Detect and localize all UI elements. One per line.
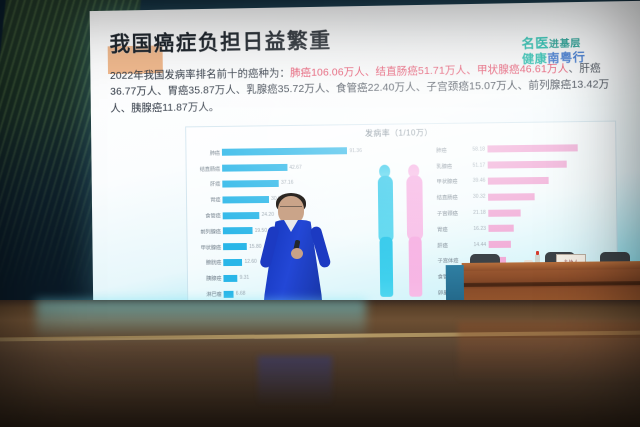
male-silhouette	[372, 165, 400, 297]
bar	[488, 193, 535, 201]
bar	[222, 180, 279, 188]
body-red-1: 肺癌106.06万人、结直肠癌51.71万人、甲状腺癌46.61	[290, 63, 547, 79]
bar-value-label: 30.32	[473, 194, 486, 200]
bar	[488, 241, 511, 248]
bar-category-label: 甲状腺癌	[188, 243, 222, 251]
male-body	[377, 176, 393, 242]
slide-body-text: 2022年我国发病率排名前十的癌种为：肺癌106.06万人、结直肠癌51.71万…	[110, 60, 626, 117]
bar-row: 甲状腺癌39.46	[436, 172, 616, 190]
bar-category-label: 前列腺癌	[187, 227, 221, 235]
bar-value-label: 12.60	[244, 259, 256, 265]
presenter-reflection	[258, 356, 332, 406]
bar-category-label: 淋巴瘤	[188, 290, 222, 298]
bar-track: 42.67	[222, 163, 362, 172]
bar-track: 21.18	[473, 208, 616, 216]
female-silhouette	[401, 164, 429, 297]
bar-category-label: 结直肠癌	[437, 193, 471, 201]
female-legs	[408, 237, 422, 297]
bar-category-label: 乳腺癌	[436, 161, 470, 169]
bar-track: 14.44	[473, 240, 616, 248]
bar	[222, 164, 287, 172]
bar-value-label: 51.17	[473, 162, 486, 168]
bar-row: 子宫颈癌21.18	[437, 204, 617, 222]
bar-row: 肝癌37.16	[187, 175, 363, 193]
bar-value-label: 14.44	[473, 242, 486, 248]
page-title: 我国癌症负担日益繁重	[109, 25, 537, 59]
bar-track: 91.36	[222, 147, 362, 156]
bar-value-label: 37.16	[281, 180, 293, 186]
bar-track: 37.16	[222, 179, 362, 188]
body-red-2: 万人	[547, 63, 569, 75]
bar-track: 51.17	[473, 160, 616, 169]
desk-trim	[462, 281, 640, 287]
bar-category-label: 肝癌	[187, 180, 221, 188]
chart-title: 发病率（1/10万）	[186, 125, 615, 142]
bar-value-label: 9.31	[240, 275, 250, 281]
bar-value-label: 21.18	[473, 210, 486, 216]
bar	[223, 243, 247, 250]
bar-category-label: 肺癌	[436, 146, 470, 154]
bar	[223, 212, 260, 219]
silhouette-group	[362, 142, 438, 301]
bar-value-label: 42.67	[289, 164, 302, 170]
bar-category-label: 肝癌	[437, 241, 471, 249]
bar-category-label: 结直肠癌	[187, 164, 221, 172]
bar	[487, 161, 567, 169]
bar	[222, 148, 348, 157]
desk-top	[462, 261, 640, 271]
logo-line1-main: 名医	[521, 35, 549, 51]
desk-reflection	[458, 322, 640, 382]
bar-category-label: 食管癌	[187, 211, 221, 219]
bar-category-label: 肺癌	[186, 149, 220, 157]
bar-category-label: 胃癌	[437, 225, 471, 233]
bar	[488, 225, 513, 232]
auditorium-scene: 我国癌症负担日益繁重 名医进基层 健康南粤行 2022年我国发病率排名前十的癌种…	[0, 0, 640, 427]
bar-row: 胃癌16.23	[437, 220, 617, 238]
bar-row: 结直肠癌30.32	[437, 188, 617, 206]
bar-track: 30.32	[473, 192, 616, 201]
bar	[223, 259, 242, 266]
bar-row: 肝癌14.44	[437, 236, 617, 253]
bar	[223, 227, 253, 234]
bar-category-label: 胰腺癌	[188, 274, 222, 282]
bar	[224, 290, 234, 297]
bar-track: 39.46	[473, 176, 616, 185]
bar-category-label: 膀胱癌	[188, 259, 222, 267]
bar-value-label: 91.36	[349, 148, 362, 154]
bar	[223, 275, 237, 282]
bar	[487, 177, 549, 185]
bar-value-label: 39.46	[473, 178, 486, 184]
bar	[487, 145, 578, 153]
male-legs	[379, 237, 393, 297]
bar-value-label: 58.18	[472, 146, 485, 152]
bar-category-label: 甲状腺癌	[436, 177, 470, 185]
bar-track: 58.18	[472, 144, 615, 153]
presenter-hands	[291, 248, 303, 259]
logo-line1-sub: 进基层	[549, 38, 581, 50]
female-body	[406, 175, 423, 241]
presenter-glasses	[280, 206, 302, 211]
bar-category-label: 子宫颈癌	[437, 209, 471, 217]
bar	[488, 209, 521, 216]
body-plain-1: 2022年我国发病率排名前十的癌种为：	[110, 67, 290, 82]
bar-category-label: 胃癌	[187, 196, 221, 204]
bar-value-label: 6.68	[236, 291, 246, 297]
bar-value-label: 16.23	[473, 226, 486, 232]
bar-track: 16.23	[473, 224, 616, 232]
